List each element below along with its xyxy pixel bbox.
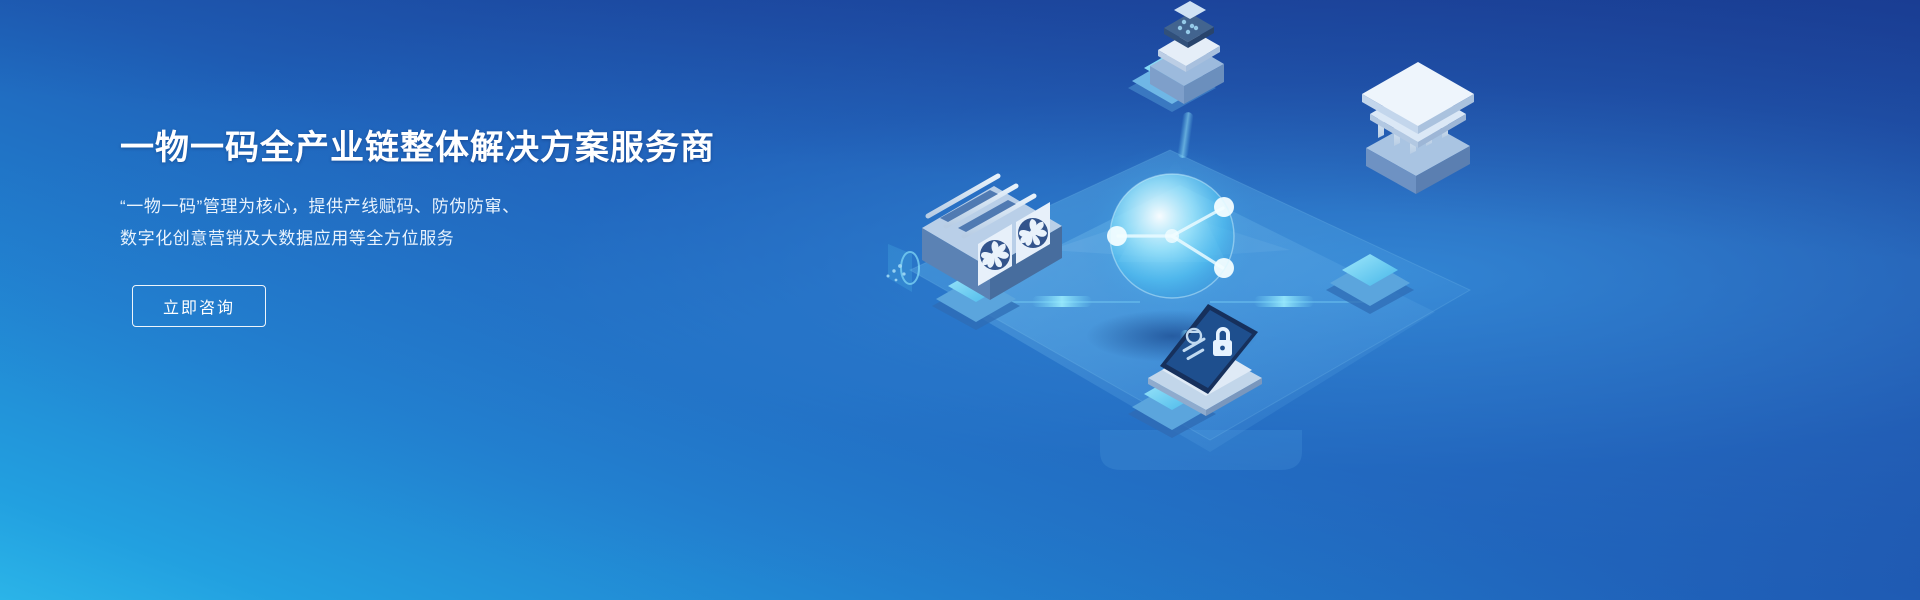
hero-copy: 一物一码全产业链整体解决方案服务商 “一物一码”管理为核心，提供产线赋码、防伪防… [120,128,760,327]
subtitle-line-2: 数字化创意营销及大数据应用等全方位服务 [120,223,760,255]
hero-illustration [850,0,1550,600]
consult-now-button[interactable]: 立即咨询 [132,285,266,327]
subtitle-line-1: “一物一码”管理为核心，提供产线赋码、防伪防窜、 [120,191,760,223]
hero-banner: 一物一码全产业链整体解决方案服务商 “一物一码”管理为核心，提供产线赋码、防伪防… [0,0,1920,600]
network-sphere-icon [1080,144,1264,328]
hero-subtitle: “一物一码”管理为核心，提供产线赋码、防伪防窜、 数字化创意营销及大数据应用等全… [120,191,760,255]
bank-building-icon [1362,62,1474,194]
page-title: 一物一码全产业链整体解决方案服务商 [120,128,760,169]
